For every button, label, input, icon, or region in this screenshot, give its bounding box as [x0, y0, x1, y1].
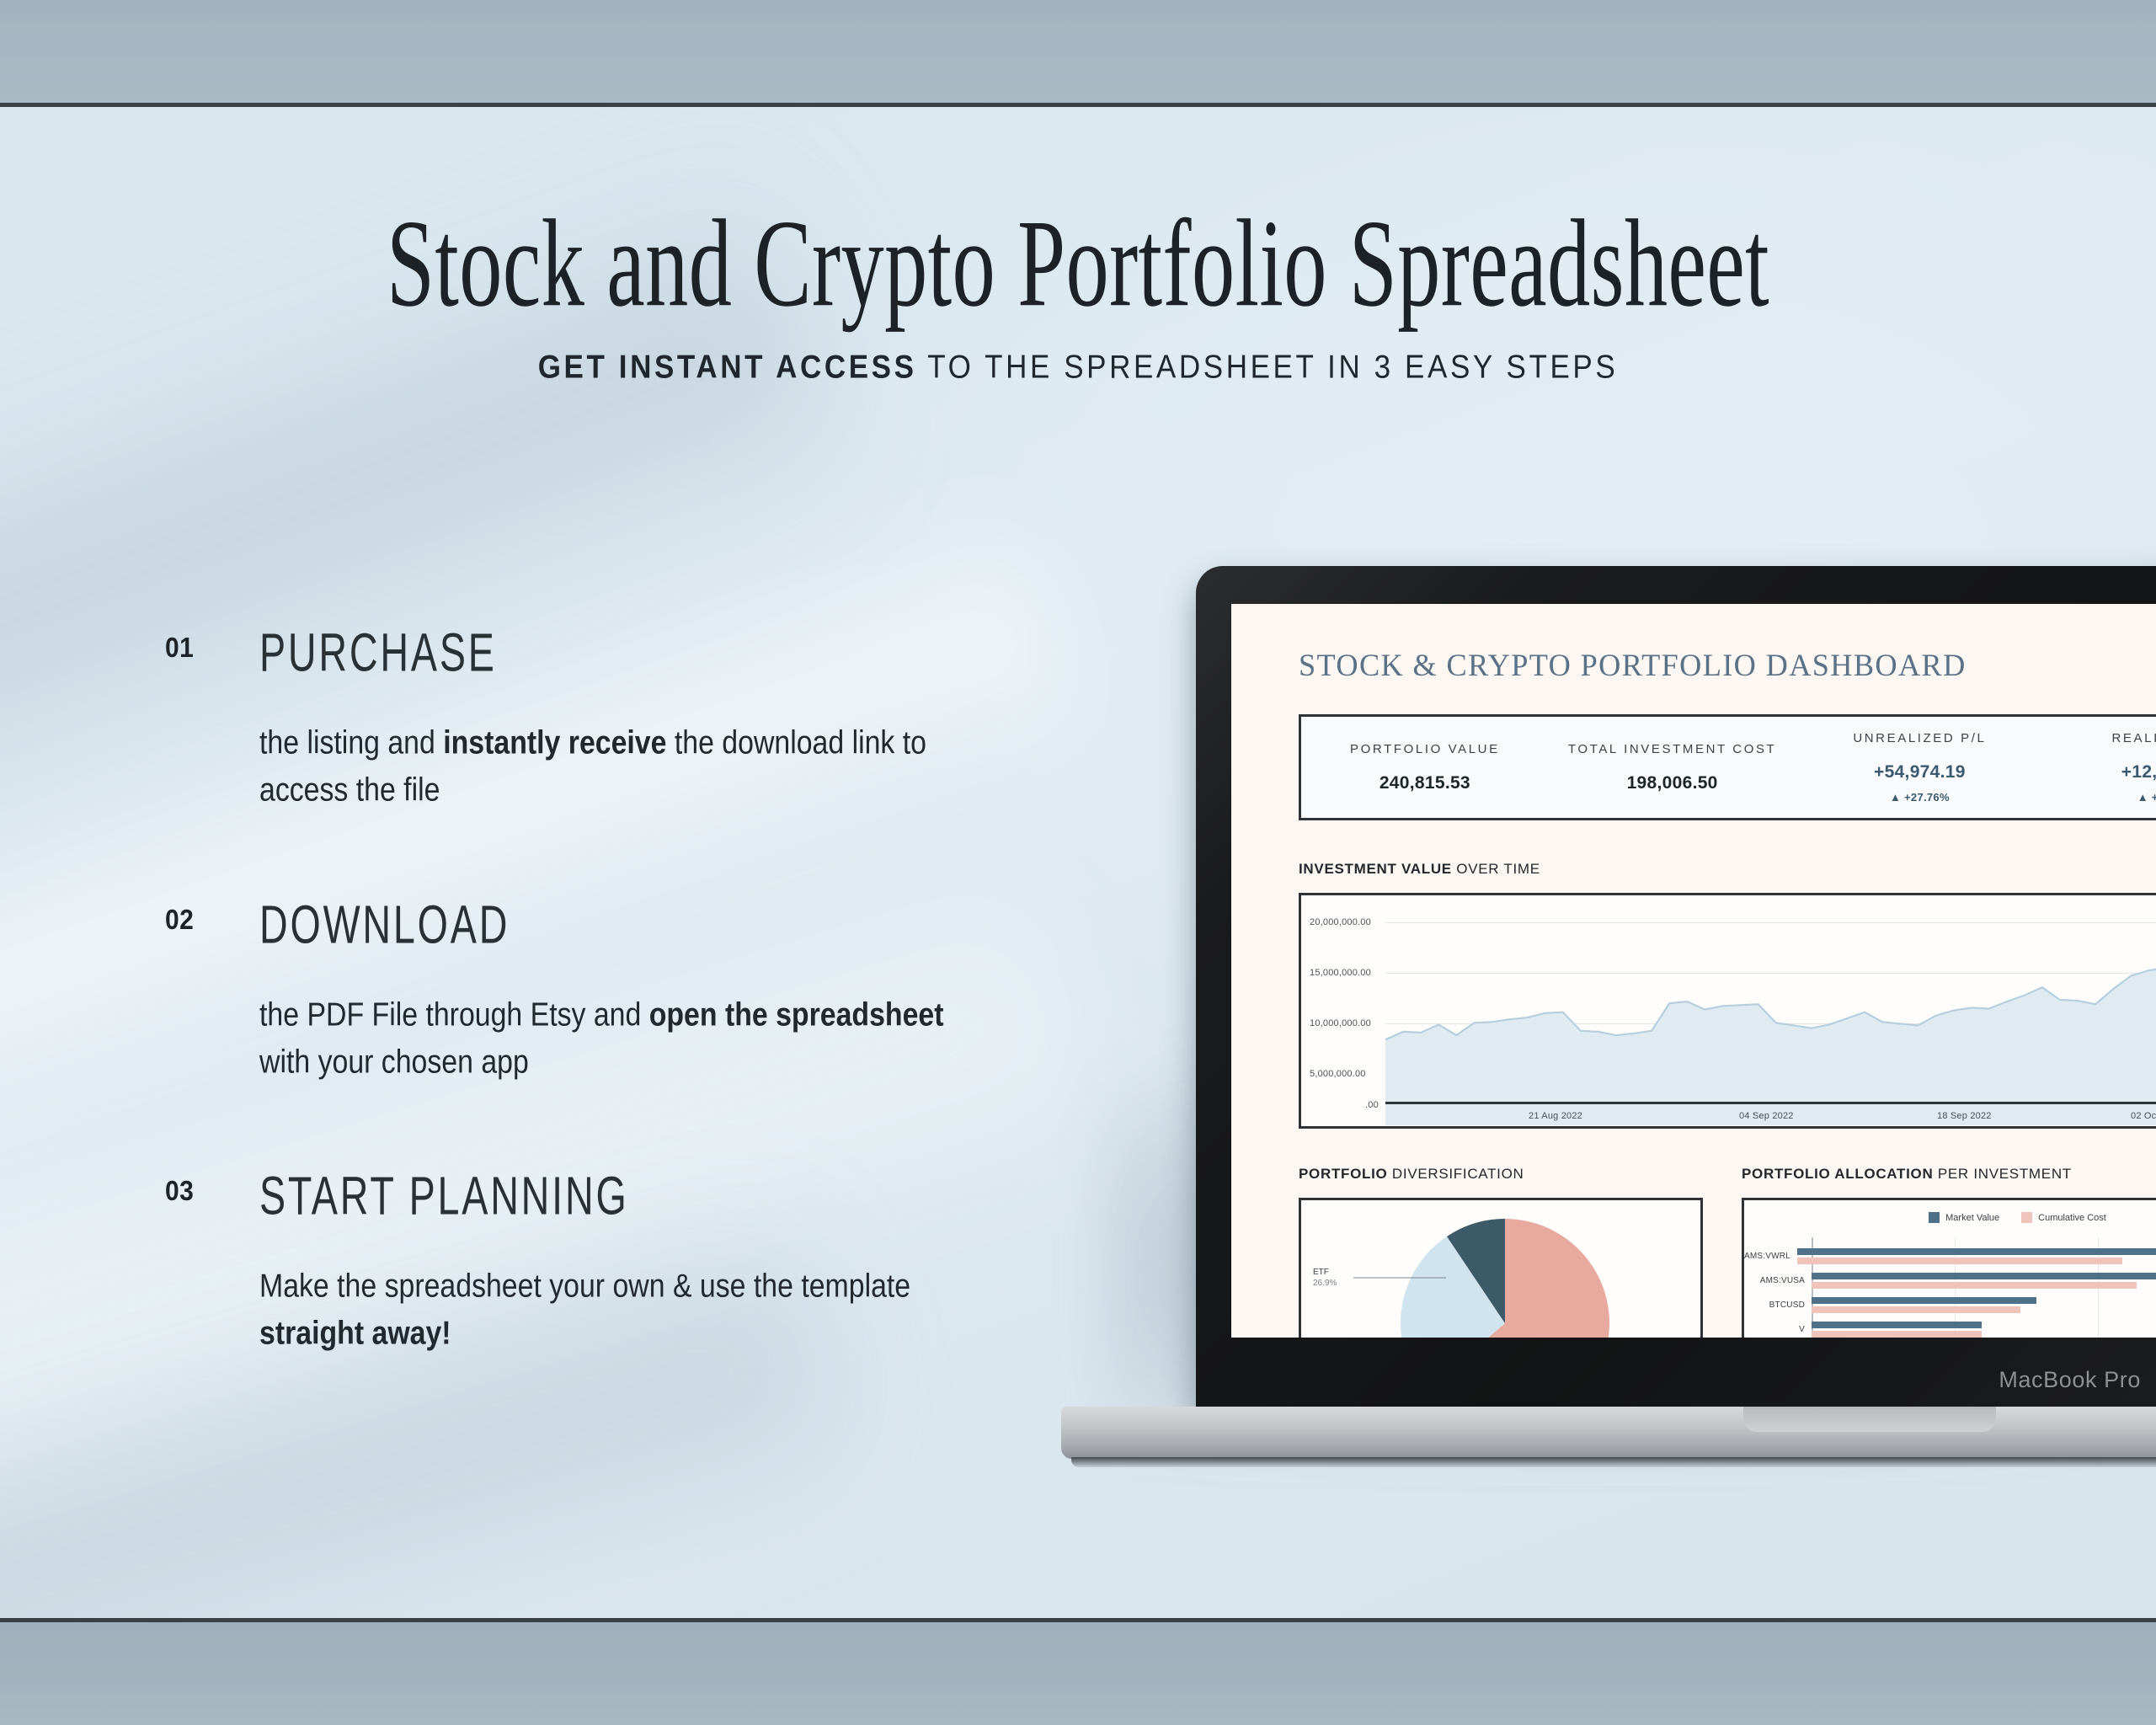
bar-category-label: AMS:VUSA — [1744, 1276, 1812, 1285]
step-number: 01 — [165, 633, 194, 665]
bar-category-label: AMS:VWRL — [1744, 1252, 1797, 1261]
legend-label: Market Value — [1945, 1213, 1999, 1223]
step-number: 02 — [165, 905, 194, 937]
kpi-value: +54,974.19 — [1796, 762, 2044, 782]
dashboard-lower-row: PORTFOLIO DIVERSIFICATION ETF 26.9% Cryp… — [1299, 1166, 2156, 1338]
laptop-base-shadow — [1071, 1457, 2156, 1467]
bar-pair — [1812, 1273, 2156, 1289]
title-rest: DIVERSIFICATION — [1387, 1166, 1524, 1182]
investment-value-chart-section: INVESTMENT VALUE OVER TIME 20,000,000.00… — [1299, 861, 2156, 1129]
step-body-part1: Make the spreadsheet your own & use the … — [259, 1268, 910, 1305]
bar-category-label: V — [1744, 1325, 1812, 1334]
step-item-02: 02 DOWNLOAD the PDF File through Etsy an… — [165, 895, 1058, 1079]
step-body-emphasis: open the spreadsheet — [649, 996, 944, 1033]
bar-market-value — [1812, 1273, 2156, 1279]
bar-pair — [1812, 1297, 2156, 1313]
y-tick-label: 5,000,000.00 — [1310, 1069, 1366, 1079]
laptop-lid: STOCK & CRYPTO PORTFOLIO DASHBOARD PORTF… — [1196, 566, 2156, 1412]
step-body-part1: the PDF File through Etsy and — [259, 996, 649, 1033]
laptop-screen: STOCK & CRYPTO PORTFOLIO DASHBOARD PORTF… — [1231, 604, 2156, 1338]
kpi-value: 198,006.50 — [1549, 773, 1796, 793]
investment-value-chart-title: INVESTMENT VALUE OVER TIME — [1299, 861, 2156, 878]
bar-row: AMS:VUSA — [1744, 1268, 2156, 1293]
x-tick-label: 18 Sep 2022 — [1937, 1111, 1992, 1121]
page-title: Stock and Crypto Portfolio Spreadsheet — [216, 200, 1940, 327]
bar-cumulative-cost — [1797, 1258, 2122, 1264]
step-heading: PURCHASE — [259, 622, 962, 684]
legend-item-market-value: Market Value — [1929, 1212, 1999, 1223]
poster-canvas: Stock and Crypto Portfolio Spreadsheet G… — [0, 107, 2156, 1618]
kpi-realized-pl: REALIZED P/L +12,603.44 ▲ +24.56% — [2043, 731, 2156, 804]
step-body-emphasis: straight away! — [259, 1314, 451, 1351]
bar-row: AMS:VWRL — [1744, 1244, 2156, 1268]
bar-cumulative-cost — [1812, 1282, 2137, 1289]
pie-leader-lines — [1301, 1200, 1700, 1338]
step-heading: DOWNLOAD — [259, 895, 962, 956]
step-body: the PDF File through Etsy and open the s… — [259, 991, 972, 1085]
diversification-pie-chart: ETF 26.9% Cryptocurrency 9.4% Stocks 63.… — [1299, 1198, 1703, 1338]
steps-list: 01 PURCHASE the listing and instantly re… — [165, 622, 1058, 1438]
x-tick-label: 04 Sep 2022 — [1739, 1111, 1794, 1121]
step-body: the listing and instantly receive the do… — [259, 719, 972, 813]
allocation-legend: Market Value Cumulative Cost — [1744, 1212, 2156, 1223]
step-body-emphasis: instantly receive — [443, 724, 666, 761]
y-tick-label: .00 — [1365, 1100, 1379, 1110]
kpi-label: UNREALIZED P/L — [1796, 731, 2044, 745]
legend-label: Cumulative Cost — [2038, 1213, 2106, 1223]
bar-cumulative-cost — [1812, 1331, 1982, 1338]
page-subtitle: GET INSTANT ACCESS TO THE SPREADSHEET IN… — [0, 349, 2156, 387]
allocation-section: PORTFOLIO ALLOCATION PER INVESTMENT Mark… — [1742, 1166, 2156, 1338]
title-emphasis: PORTFOLIO — [1299, 1166, 1387, 1182]
legend-swatch-icon — [1929, 1212, 1940, 1223]
kpi-label: PORTFOLIO VALUE — [1301, 742, 1549, 756]
step-body-part1: the listing and — [259, 724, 443, 761]
step-heading: START PLANNING — [259, 1166, 962, 1227]
bar-pair — [1797, 1248, 2156, 1264]
title-emphasis: PORTFOLIO ALLOCATION — [1742, 1166, 1933, 1182]
step-item-01: 01 PURCHASE the listing and instantly re… — [165, 622, 1058, 807]
title-rest: OVER TIME — [1452, 861, 1540, 877]
dashboard: STOCK & CRYPTO PORTFOLIO DASHBOARD PORTF… — [1231, 604, 2156, 1338]
kpi-unrealized-pl: UNREALIZED P/L +54,974.19 ▲ +27.76% — [1796, 731, 2044, 804]
legend-item-cumulative-cost: Cumulative Cost — [2021, 1212, 2106, 1223]
kpi-label: TOTAL INVESTMENT COST — [1549, 742, 1796, 756]
kpi-label: REALIZED P/L — [2043, 731, 2156, 745]
bar-market-value — [1812, 1322, 1982, 1328]
legend-swatch-icon — [2021, 1212, 2032, 1223]
bar-category-label: BTCUSD — [1744, 1300, 1812, 1310]
frame-top-strip — [0, 0, 2156, 103]
laptop-mockup: STOCK & CRYPTO PORTFOLIO DASHBOARD PORTF… — [1196, 566, 2156, 1471]
kpi-delta-badge: ▲ +27.76% — [1796, 791, 2044, 804]
bar-row: V — [1744, 1317, 2156, 1338]
step-body-part2: with your chosen app — [259, 1042, 529, 1079]
page-subtitle-emphasis: GET INSTANT ACCESS — [538, 349, 917, 386]
page-subtitle-rest: TO THE SPREADSHEET IN 3 EASY STEPS — [917, 349, 1619, 386]
bar-market-value — [1812, 1297, 2036, 1304]
x-tick-label: 02 Oct 2022 — [2131, 1111, 2156, 1121]
allocation-bar-rows: AMS:VWRLAMS:VUSABTCUSDVTSLAJNJULVRLON:NG… — [1744, 1244, 2156, 1338]
dashboard-title: STOCK & CRYPTO PORTFOLIO DASHBOARD — [1299, 648, 2156, 684]
bar-market-value — [1797, 1248, 2156, 1255]
kpi-value: 240,815.53 — [1301, 773, 1549, 793]
x-axis-line — [1385, 1102, 2156, 1104]
kpi-delta-badge: ▲ +24.56% — [2043, 791, 2156, 804]
kpi-total-investment-cost: TOTAL INVESTMENT COST 198,006.50 — [1549, 742, 1796, 793]
kpi-portfolio-value: PORTFOLIO VALUE 240,815.53 — [1301, 742, 1549, 793]
y-tick-label: 20,000,000.00 — [1310, 917, 1371, 927]
title-rest: PER INVESTMENT — [1933, 1166, 2071, 1182]
investment-area-series — [1385, 895, 2156, 1125]
bar-pair — [1812, 1322, 2156, 1338]
title-emphasis: INVESTMENT VALUE — [1299, 861, 1452, 877]
device-model-label: MacBook Pro — [1999, 1367, 2141, 1393]
kpi-value: +12,603.44 — [2043, 762, 2156, 782]
allocation-title: PORTFOLIO ALLOCATION PER INVESTMENT — [1742, 1166, 2156, 1183]
diversification-section: PORTFOLIO DIVERSIFICATION ETF 26.9% Cryp… — [1299, 1166, 1703, 1338]
step-item-03: 03 START PLANNING Make the spreadsheet y… — [165, 1166, 1058, 1350]
step-body: Make the spreadsheet your own & use the … — [259, 1263, 972, 1356]
frame-bottom-rule — [0, 1618, 2156, 1622]
laptop-base-notch — [1743, 1407, 1996, 1432]
allocation-bar-chart: Market Value Cumulative Cost — [1742, 1198, 2156, 1338]
y-tick-label: 10,000,000.00 — [1310, 1018, 1371, 1028]
y-tick-label: 15,000,000.00 — [1310, 968, 1371, 978]
bar-row: BTCUSD — [1744, 1293, 2156, 1317]
x-tick-label: 21 Aug 2022 — [1529, 1111, 1582, 1121]
headline-block: Stock and Crypto Portfolio Spreadsheet G… — [0, 200, 2156, 382]
step-number: 03 — [165, 1176, 194, 1208]
diversification-title: PORTFOLIO DIVERSIFICATION — [1299, 1166, 1703, 1183]
laptop-base — [1061, 1407, 2156, 1459]
kpi-panel: PORTFOLIO VALUE 240,815.53 TOTAL INVESTM… — [1299, 714, 2156, 820]
frame-bottom-strip — [0, 1622, 2156, 1725]
bar-cumulative-cost — [1812, 1306, 2020, 1313]
investment-value-chart: 20,000,000.00 15,000,000.00 10,000,000.0… — [1299, 893, 2156, 1129]
